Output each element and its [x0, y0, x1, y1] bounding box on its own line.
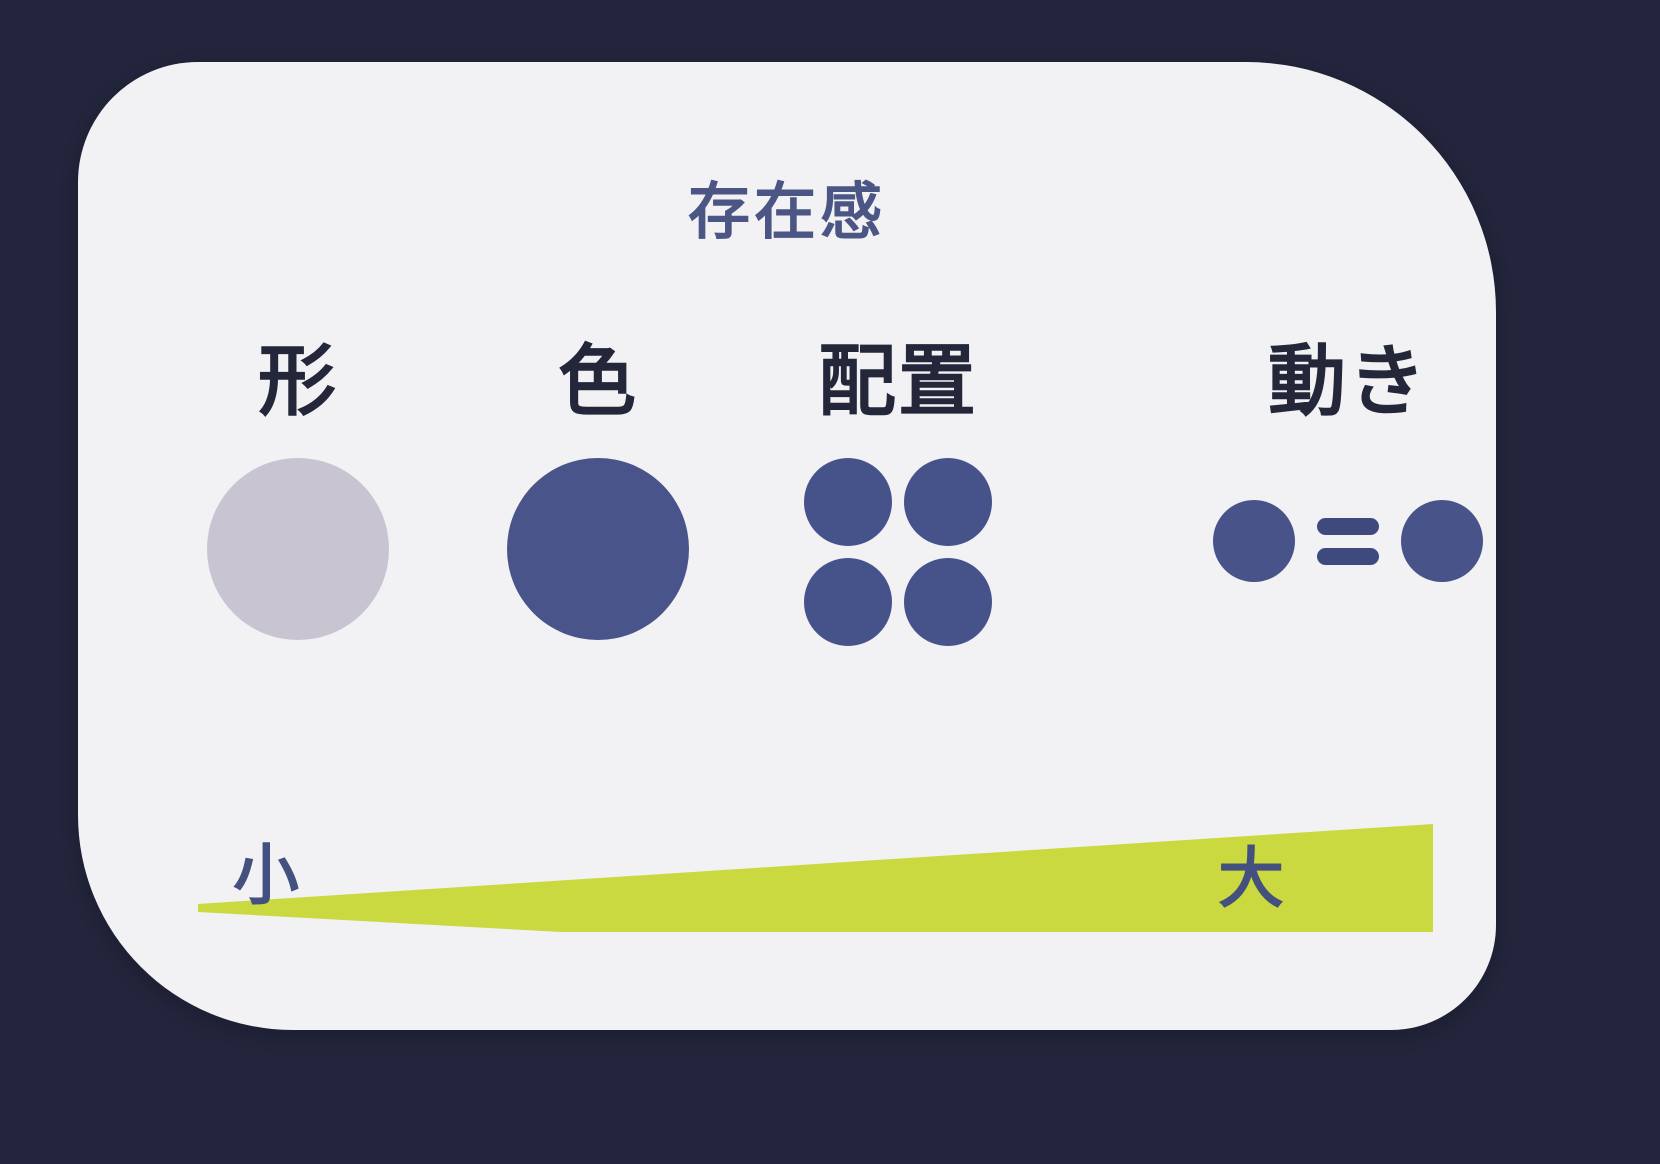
infographic-canvas: 存在感 形 色 配置 — [0, 0, 1660, 1164]
four-dot-grid-icon — [804, 458, 992, 646]
presence-scale-wedge — [198, 752, 1478, 932]
column-color: 色 — [468, 342, 728, 648]
page-title: 存在感 — [78, 182, 1496, 244]
content-card: 存在感 形 色 配置 — [78, 62, 1496, 1030]
motion-dot-right-icon — [1401, 500, 1483, 582]
column-art-motion — [1198, 458, 1498, 648]
accent-circle-icon — [507, 458, 689, 640]
scale-label-large: 大 — [1218, 845, 1285, 911]
equals-bar-bottom — [1317, 548, 1379, 565]
column-art-shape — [168, 458, 428, 648]
motion-dot-left-icon — [1213, 500, 1295, 582]
column-label-shape: 形 — [168, 342, 428, 420]
column-layout: 配置 — [748, 342, 1048, 648]
column-motion: 動き — [1198, 342, 1498, 648]
grid-dot-icon — [904, 458, 992, 546]
grid-dot-icon — [804, 558, 892, 646]
column-label-color: 色 — [468, 342, 728, 420]
column-label-layout: 配置 — [748, 342, 1048, 420]
column-art-layout — [748, 458, 1048, 648]
scale-label-small: 小 — [233, 842, 300, 908]
column-shape: 形 — [168, 342, 428, 648]
grid-dot-icon — [804, 458, 892, 546]
column-art-color — [468, 458, 728, 648]
grid-dot-icon — [904, 558, 992, 646]
dot-equals-dot-icon — [1213, 500, 1483, 582]
equals-bar-top — [1317, 518, 1379, 535]
column-label-motion: 動き — [1198, 342, 1498, 420]
equals-sign-icon — [1317, 518, 1379, 565]
muted-circle-icon — [207, 458, 389, 640]
